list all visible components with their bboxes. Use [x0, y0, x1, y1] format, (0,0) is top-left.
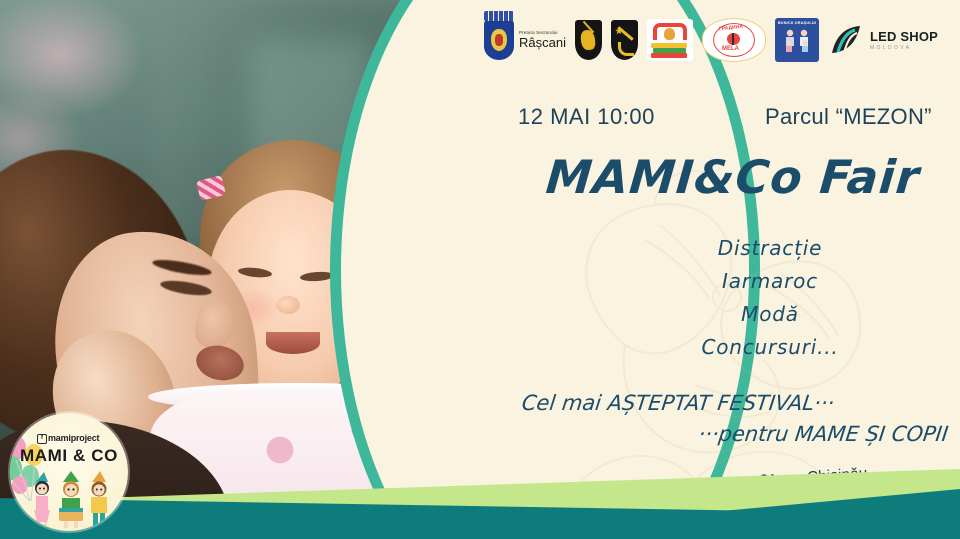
tagline-line-2: ···pentru MAME ȘI COPII	[516, 419, 950, 450]
poster-canvas: Pretura Sectorului Râșcani ГРАДИНА MELA	[0, 0, 960, 539]
ladybug-icon	[727, 33, 740, 45]
badge-brand: MAMI & CO	[10, 446, 128, 466]
badge-handle: mamiproject	[48, 433, 99, 443]
page-title: MAMI&Co Fair	[526, 150, 941, 204]
crown-icon	[484, 11, 514, 21]
feature-item-3: Concursuri...	[620, 331, 920, 364]
mami-co-badge[interactable]: f mamiproject MAMI & CO	[10, 413, 128, 531]
sponsor-logo-strip: Pretura Sectorului Râșcani ГРАДИНА MELA	[484, 8, 954, 72]
scythe-blade-icon	[617, 26, 633, 41]
sponsor-books-house[interactable]	[647, 19, 693, 61]
sponsor-star-scythe-crest[interactable]	[611, 20, 638, 60]
sponsor-label-rascani: Râșcani	[519, 36, 566, 49]
grandparents-children-icon	[780, 28, 814, 52]
sponsor-label-gradina: ГРАДИНА	[719, 24, 743, 32]
scythe-hook-icon	[618, 42, 634, 56]
lion-icon	[580, 29, 596, 50]
facebook-icon: f	[37, 434, 47, 444]
led-shop-mark-icon	[828, 23, 864, 57]
sponsor-lion-crest[interactable]	[575, 20, 602, 60]
event-date: 12 MAI 10:00	[518, 104, 655, 130]
rascani-coat-of-arms-icon	[484, 20, 514, 60]
tagline-line-1: Cel mai AȘTEPTAT FESTIVAL···	[520, 388, 954, 419]
feature-item-0: Distracție	[620, 232, 920, 265]
feature-item-2: Modă	[620, 298, 920, 331]
feature-item-1: Iarmaroc	[620, 265, 920, 298]
sponsor-label-bunicii: BUNICII ORAȘULUI	[778, 21, 816, 25]
event-venue: Parcul “MEZON”	[765, 104, 932, 130]
tagline: Cel mai AȘTEPTAT FESTIVAL··· ···pentru M…	[516, 388, 954, 450]
book-icon-red	[651, 53, 687, 58]
feature-list: Distracție Iarmaroc Modă Concursuri...	[620, 232, 920, 364]
sponsor-led-shop[interactable]: LED SHOP MOLDOVA	[828, 23, 938, 57]
child-nose	[276, 296, 300, 314]
sponsor-gradinita-mela[interactable]: ГРАДИНА MELA	[702, 18, 766, 62]
sponsor-pretura-rascani[interactable]: Pretura Sectorului Râșcani	[484, 20, 566, 60]
child-figure-icon	[664, 28, 675, 40]
eagle-icon	[491, 29, 507, 51]
sponsor-label-led-moldova: MOLDOVA	[870, 45, 938, 51]
children-characters-icon	[30, 470, 114, 528]
child-mouth	[266, 332, 320, 354]
sponsor-label-mela: MELA	[722, 46, 739, 52]
sponsor-bunicii-orasului[interactable]: BUNICII ORAȘULUI	[775, 18, 819, 62]
mela-ring-icon: ГРАДИНА MELA	[713, 23, 755, 57]
sponsor-label-led-shop: LED SHOP	[870, 30, 938, 43]
